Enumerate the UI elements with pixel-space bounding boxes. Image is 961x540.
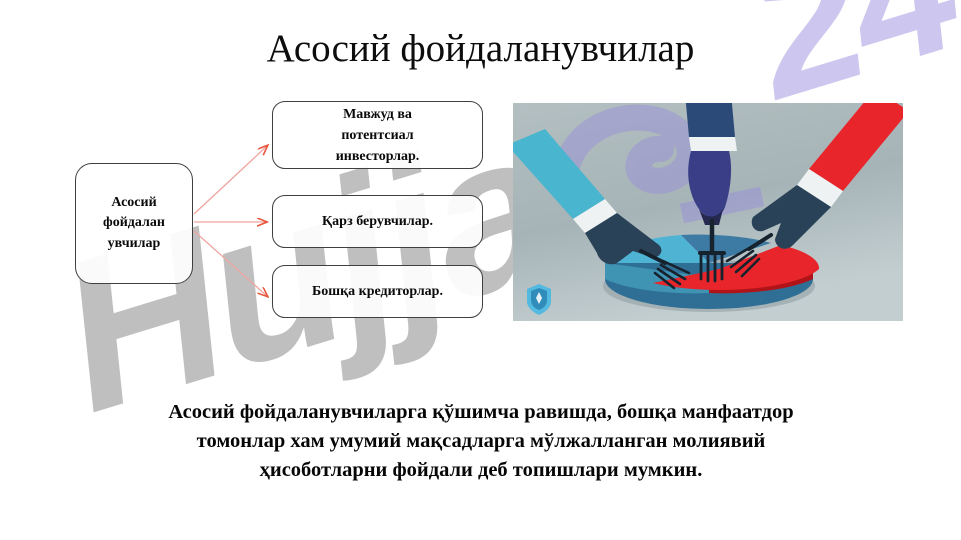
caption-line-1: Асосий фойдаланувчиларга қўшимча равишда…	[110, 398, 852, 427]
center-sleeve	[685, 103, 735, 137]
diagram-node-source-label: Асосий фойдалан увчилар	[103, 193, 165, 254]
caption-text: Асосий фойдаланувчиларга қўшимча равишда…	[110, 398, 852, 485]
arrow-to-other-creditors	[194, 231, 267, 296]
arrow-to-investors	[194, 146, 267, 214]
diagram-node-source[interactable]: Асосий фойдалан увчилар	[75, 163, 193, 284]
slide-canvas: Hujjat 24 Асосий фойдаланувчилар Асосий …	[0, 0, 961, 540]
caption-line-2: томонлар хам умумий мақсадларга мўлжалла…	[110, 427, 852, 456]
diagram: Асосий фойдалан увчилар Мавжуд ва потент…	[0, 0, 520, 340]
diagram-node-other-creditors-label: Бошқа кредиторлар.	[312, 284, 443, 300]
center-cuff	[689, 137, 737, 151]
diagram-node-investors-label: Мавжуд ва потентсиал инвесторлар.	[336, 104, 420, 167]
diagram-node-investors[interactable]: Мавжуд ва потентсиал инвесторлар.	[272, 101, 483, 169]
diagram-node-lenders[interactable]: Қарз берувчилар.	[272, 195, 483, 248]
diagram-node-lenders-label: Қарз берувчилар.	[322, 214, 433, 230]
diagram-node-other-creditors[interactable]: Бошқа кредиторлар.	[272, 265, 483, 318]
illustration-image	[513, 103, 903, 321]
caption-line-3: ҳисоботларни фойдали деб топишлари мумки…	[110, 456, 852, 485]
illustration-svg	[513, 103, 903, 321]
